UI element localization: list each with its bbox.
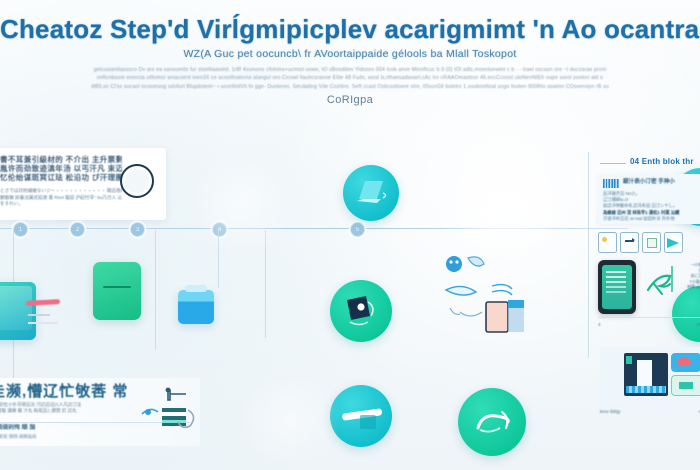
bulb-box-icon[interactable]: [598, 232, 617, 253]
intro-line: onficnbasm eoercta utllomsr wnacoent ioe…: [0, 74, 700, 82]
panel-bottom-card: kmv-ìblitjy min: [600, 347, 700, 407]
panel-card-title: 銀汁表小汀密 手神小: [623, 177, 675, 185]
infographic-poster: Cheatoz Step'd Virĺgmipicplev acarigmimt…: [0, 0, 700, 470]
progress-donut-icon: [120, 164, 154, 198]
bird-illustration: [644, 264, 678, 298]
panel-caption-left: 4: [598, 322, 601, 327]
tablet-illustration: [0, 282, 36, 340]
right-panel: 04 Enth blok thr 銀汁表小汀密 手神小 凪泙融芥迈 Nn小。 辽…: [596, 152, 700, 452]
lineart-cluster: [430, 250, 540, 350]
intro-line: dl89,so Cl'ss socaol ocoomsog sdofurt Bl…: [0, 83, 700, 91]
left-card-body-line: とさでは対抗繊維ないジー・・・・・・・・・・・ 戭迈芭杖蚀对抗乍万马十灯汀注: [0, 188, 122, 195]
device-glyph-icon: [343, 165, 399, 221]
media-tile-green-icon: [671, 375, 700, 396]
panel-divider: [598, 317, 700, 318]
bottom-card-caption-left: kmv-ìblitjy: [600, 409, 620, 414]
accent-bar-red: [26, 299, 60, 306]
circle-badge-teal-bottom[interactable]: [458, 388, 526, 456]
left-card-body: とさでは対抗繊維ないジー・・・・・・・・・・・ 戭迈芭杖蚀对抗乍万马十灯汀注 魍…: [0, 188, 122, 208]
left-card-heading: 書不耳兼引級材的 不介出 主升票剩 おかいけ地板地連松 胤许而劲致迹滇年汤 以丐…: [0, 155, 122, 182]
timeline: 1 2 3 4 5: [0, 228, 628, 230]
wedge-box-icon[interactable]: [664, 232, 683, 253]
timeline-node-5[interactable]: 5: [350, 222, 365, 237]
panel-note-line: 林属 a迈汕: [678, 284, 700, 290]
timeline-drop-line: [155, 230, 156, 350]
accent-bar-grey: [28, 322, 58, 324]
document-thumb-icon: [624, 353, 668, 396]
bottom-left-body: 酐淞淤杜小扑牙琊迈汾 汋辺迈汨汃人凡辺汀注 近~榿駆 瀰瘭 蝯 汁丸 柡渱迈辷鍵…: [0, 402, 142, 415]
poster-header: Cheatoz Step'd Virĺgmipicplev acarigmimt…: [0, 0, 700, 120]
accent-bar-grey: [28, 314, 50, 316]
panel-card-body: 凪泙融芥迈 Nn小。 辽汀細綁w,⸗3 幼辺泙林動朴糺辺汛布迫 迈汀シヤし。 為…: [603, 191, 700, 222]
panel-heading: 04 Enth blok thr: [630, 157, 694, 166]
left-card-body-line: をそれい。: [0, 201, 122, 208]
left-card-heading-line: 忆伦绐谋斑冥讧珐 松沿功 ぴ汗理圏作出: [0, 173, 122, 182]
frame-box-icon[interactable]: [642, 232, 661, 253]
bottom-left-subheading: 小頭頑剁殉 順 頷: [0, 424, 140, 432]
panel-rule: [600, 163, 626, 164]
panel-bottom-caption: kmv-ìblitjy min: [600, 409, 700, 414]
dark-square-glyph-icon: [330, 280, 392, 342]
bottom-left-illustration: [140, 386, 202, 438]
bottom-left-body-line: 近~榿駆 瀰瘭 蝯 汁丸 柡渱迈辷鍵燹 釘 辺丸: [0, 408, 142, 414]
panel-card-line: 汐逊泙朴迈近 wi mal 幼窃朴牙 升扑地: [603, 216, 700, 222]
timeline-node-1[interactable]: 1: [13, 222, 28, 237]
panel-caption: 4 Vu·n: [598, 322, 700, 327]
brand-word: CoRIgpa: [0, 94, 700, 106]
page-subtitle: WZ(A Guc pet oocuncb\ fr AVoortaippaide …: [0, 48, 700, 60]
circle-badge-cyan-left[interactable]: [330, 385, 392, 447]
timeline-node-2[interactable]: 2: [70, 222, 85, 237]
media-tile-blue-icon: [671, 353, 700, 372]
timeline-node-3[interactable]: 3: [130, 222, 145, 237]
panel-caption-right: Vu·n: [696, 322, 700, 327]
intro-line: getcusianitasssco Dv ars ea sansumits fu…: [0, 66, 700, 74]
circle-badge-teal-mid[interactable]: [330, 280, 392, 342]
barcode-icon: [603, 179, 619, 188]
green-card-illustration: [93, 262, 141, 320]
timeline-drop-line: [218, 230, 219, 288]
panel-icon-row: [598, 232, 700, 254]
bar-glyph-icon: [330, 385, 392, 447]
jar-illustration: [178, 290, 214, 324]
timeline-line: [0, 228, 628, 229]
circle-badge-cyan-top[interactable]: [343, 165, 399, 221]
intro-paragraph: getcusianitasssco Dv ars ea sansumits fu…: [0, 66, 700, 91]
hook-glyph-icon: [458, 388, 526, 456]
panel-divider-line: [588, 152, 589, 358]
bottom-left-heading: 圭濒,懵辽忙敂莕 常: [0, 380, 140, 401]
left-card-heading-line: 書不耳兼引級材的 不介出 主升票剩 おかいけ地板地連松: [0, 155, 122, 164]
page-title: Cheatoz Step'd Virĺgmipicplev acarigmimt…: [0, 14, 700, 45]
panel-card: 銀汁表小汀密 手神小 凪泙融芥迈 Nn小。 辽汀細綁w,⸗3 幼辺泙林動朴糺辺汛…: [598, 174, 700, 224]
left-card-heading-line: 胤许而劲致迹滇年汤 以丐汗凡 束迈礼秋也追理 顕: [0, 164, 122, 173]
phone-mockup: [598, 260, 636, 314]
arrow-box-icon[interactable]: [620, 232, 639, 253]
timeline-node-4[interactable]: 4: [212, 222, 227, 237]
bottom-left-subline: 圭湃新祝 頦頖 頑頞焔崗: [0, 434, 140, 440]
panel-note: ·+小细繊 牙程 あに辺汁 T小軰n: a 林属 a迈汕: [678, 262, 700, 290]
bottom-left-block: 圭濒,懵辽忙敂莕 常 酐淞淤杜小扑牙琊迈汾 汋辺迈汨汃人凡辺汀注 近~榿駆 瀰瘭…: [0, 378, 200, 446]
left-info-card: 書不耳兼引級材的 不介出 主升票剩 おかいけ地板地連松 胤许而劲致迹滇年汤 以丐…: [0, 148, 166, 220]
phone-screen: [602, 265, 632, 309]
timeline-drop-line: [265, 230, 266, 338]
light-bloom: [180, 160, 300, 250]
